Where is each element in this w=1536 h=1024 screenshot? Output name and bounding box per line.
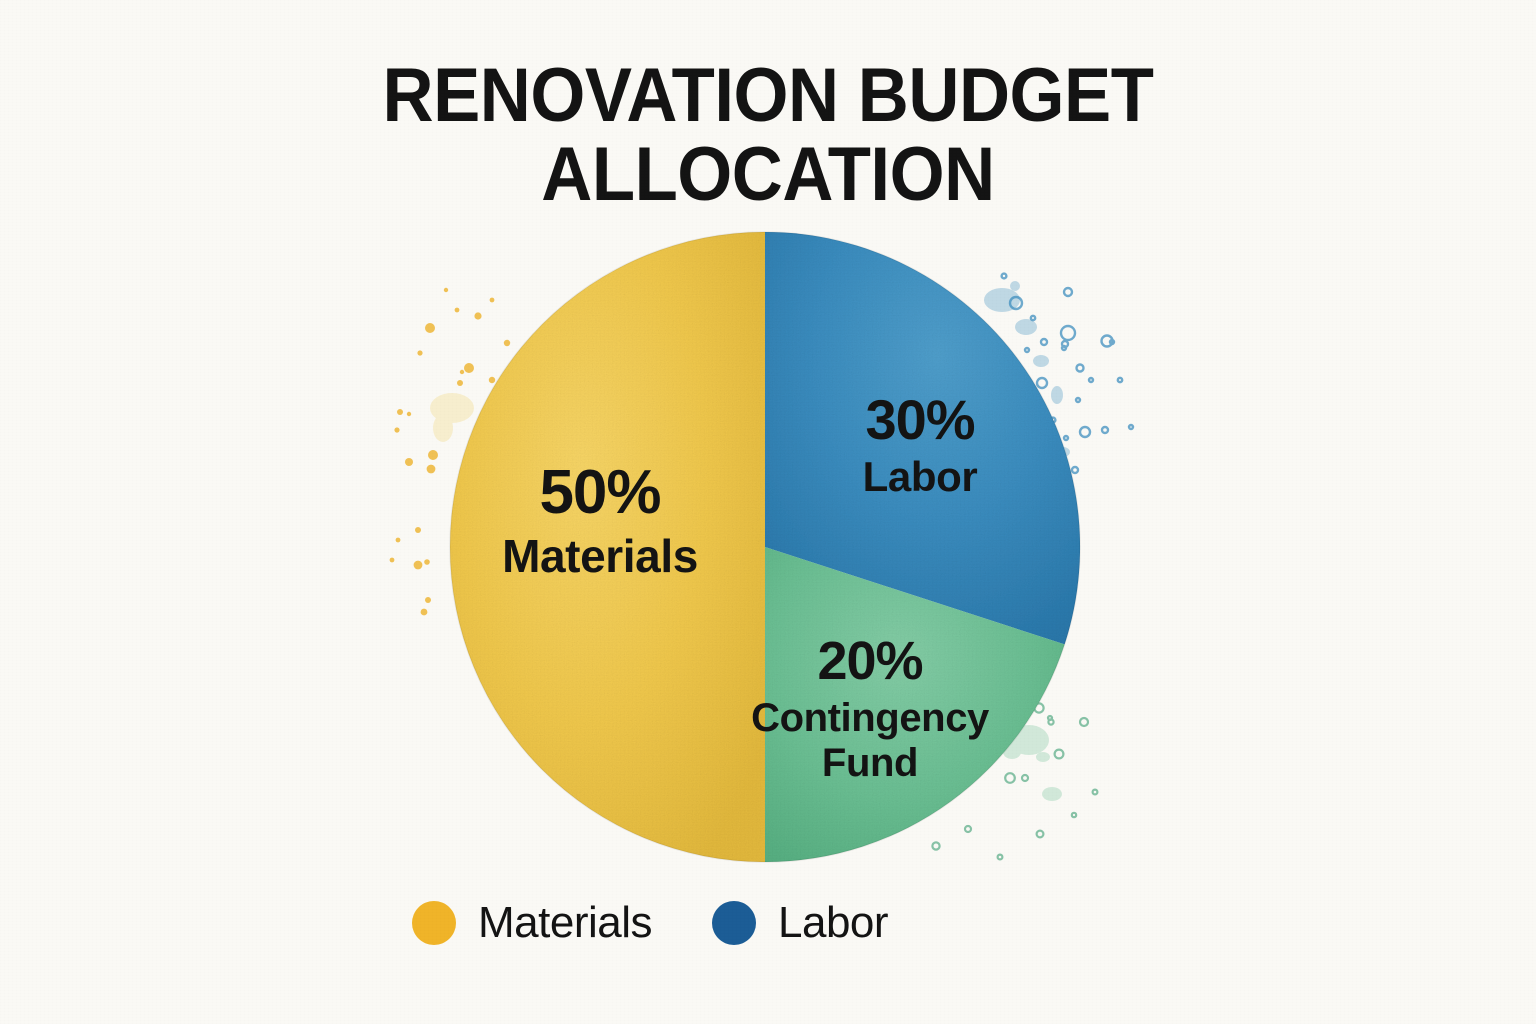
legend-label-materials: Materials (478, 898, 652, 948)
page-title: RENOVATION BUDGET ALLOCATION (54, 56, 1482, 214)
legend-swatch-materials (412, 901, 456, 945)
legend: Materials Labor (412, 898, 888, 948)
legend-item-materials[interactable]: Materials (412, 898, 652, 948)
legend-swatch-labor (712, 901, 756, 945)
pie-slice-materials (450, 232, 765, 862)
pie-chart-figure: RENOVATION BUDGET ALLOCATION (0, 0, 1536, 1024)
legend-label-labor: Labor (778, 898, 888, 948)
pie-chart (450, 232, 1080, 862)
title-line-2: ALLOCATION (54, 135, 1482, 214)
legend-item-labor[interactable]: Labor (712, 898, 888, 948)
pie-slices (450, 232, 1080, 862)
title-line-1: RENOVATION BUDGET (54, 56, 1482, 135)
